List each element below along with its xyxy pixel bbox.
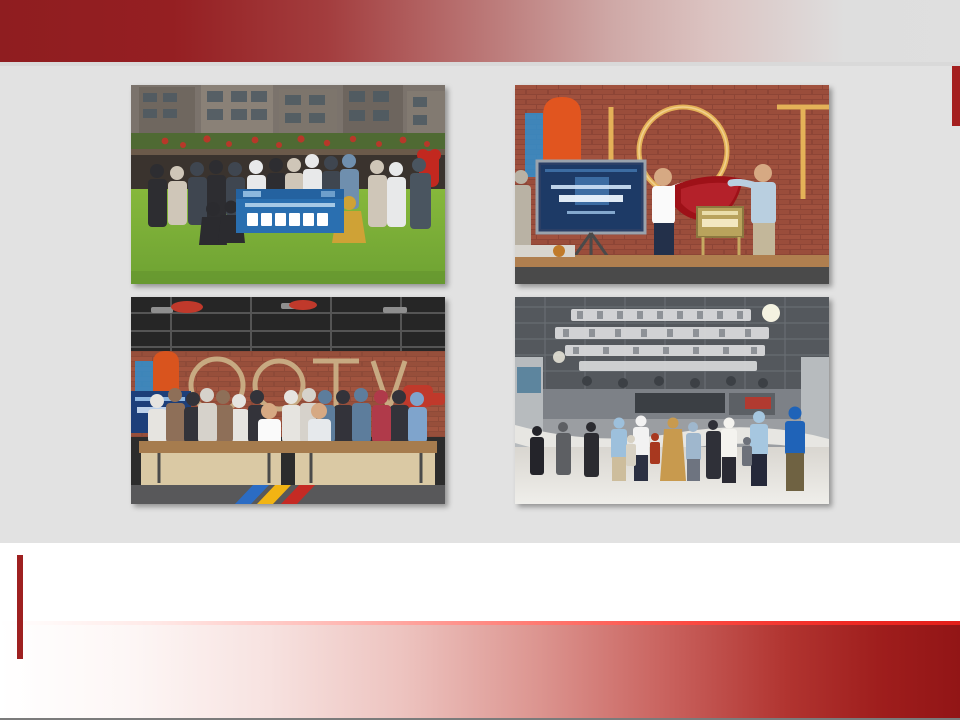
- photo-group-lawn[interactable]: [131, 85, 445, 284]
- photo-studio-tour[interactable]: [515, 297, 829, 504]
- footer-accent-line: [0, 621, 960, 625]
- header-bar: [0, 0, 960, 62]
- photo-unveiling-ceremony[interactable]: [515, 85, 829, 284]
- slide-root: 重庆师范大学: [0, 0, 960, 720]
- header-underline: [0, 62, 960, 66]
- footer-gradient-band: [0, 621, 960, 720]
- photo-signing-ceremony[interactable]: [131, 297, 445, 504]
- caption-accent-bar: [17, 555, 23, 659]
- caption-band: [0, 543, 960, 621]
